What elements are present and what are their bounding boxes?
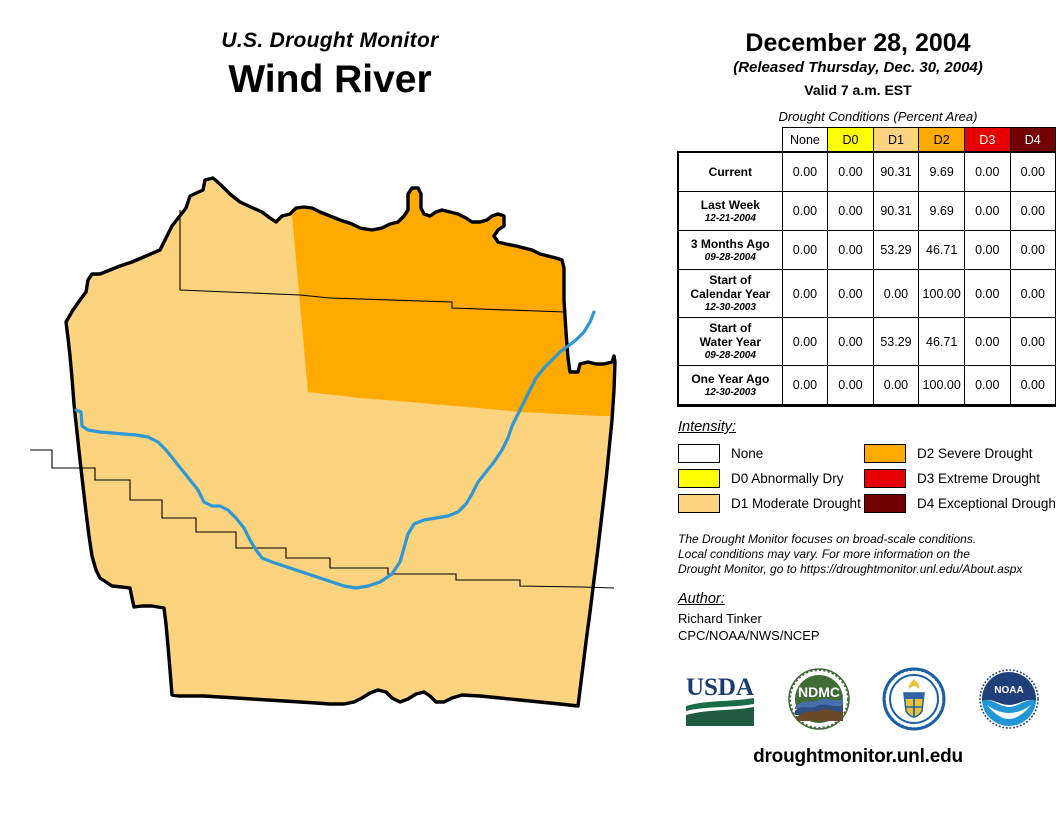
column-header-none: None bbox=[782, 128, 828, 153]
table-cell: 0.00 bbox=[1010, 231, 1056, 270]
table-cell: 0.00 bbox=[782, 366, 828, 405]
usda-logo-text: USDA bbox=[685, 674, 753, 701]
row-label-date: 09-28-2004 bbox=[681, 349, 780, 362]
row-label-date: 12-30-2003 bbox=[681, 301, 780, 314]
table-cell: 100.00 bbox=[919, 366, 965, 405]
table-cell: 0.00 bbox=[782, 270, 828, 318]
table-cell: 0.00 bbox=[873, 366, 919, 405]
table-cell: 90.31 bbox=[873, 153, 919, 192]
legend-label-d3: D3 Extreme Drought bbox=[917, 471, 1040, 486]
wind-river-drought-map[interactable] bbox=[0, 150, 660, 770]
map-panel: U.S. Drought Monitor Wind River bbox=[0, 0, 660, 816]
intensity-heading: Intensity: bbox=[678, 419, 1050, 435]
row-label-date: 12-21-2004 bbox=[681, 212, 780, 225]
row-label: One Year Ago12-30-2003 bbox=[679, 366, 783, 405]
table-row: Last Week12-21-20040.000.0090.319.690.00… bbox=[679, 192, 1056, 231]
row-label: Start ofWater Year09-28-2004 bbox=[679, 318, 783, 366]
drought-conditions-table: None D0 D1 D2 D3 D4 Current0.000.0090.31… bbox=[678, 127, 1056, 405]
table-cell: 0.00 bbox=[873, 270, 919, 318]
author-heading: Author: bbox=[678, 591, 1056, 607]
usda-logo: USDA bbox=[684, 670, 756, 733]
table-cell: 0.00 bbox=[782, 318, 828, 366]
author-name: Richard Tinker bbox=[678, 610, 1056, 627]
legend-item-d3: D3 Extreme Drought bbox=[864, 469, 1050, 488]
row-label-line: Current bbox=[681, 165, 780, 179]
column-header-d2: D2 bbox=[919, 128, 965, 153]
map-region-d2 bbox=[292, 188, 615, 416]
legend-swatch-d2 bbox=[864, 444, 906, 463]
legend-item-d1: D1 Moderate Drought bbox=[678, 494, 864, 513]
legend-label-d0: D0 Abnormally Dry bbox=[731, 471, 844, 486]
table-cell: 0.00 bbox=[828, 153, 873, 192]
intensity-legend: Intensity: NoneD2 Severe DroughtD0 Abnor… bbox=[678, 419, 1050, 516]
report-date: December 28, 2004 bbox=[660, 28, 1056, 58]
table-head: None D0 D1 D2 D3 D4 bbox=[679, 128, 1056, 153]
table-cell: 0.00 bbox=[1010, 270, 1056, 318]
row-label-line: Last Week bbox=[681, 198, 780, 212]
table-cell: 53.29 bbox=[873, 318, 919, 366]
table-cell: 53.29 bbox=[873, 231, 919, 270]
legend-label-none: None bbox=[731, 446, 763, 461]
legend-swatch-d3 bbox=[864, 469, 906, 488]
table-cell: 0.00 bbox=[965, 192, 1010, 231]
row-label: Start ofCalendar Year12-30-2003 bbox=[679, 270, 783, 318]
legend-grid: NoneD2 Severe DroughtD0 Abnormally DryD3… bbox=[678, 441, 1050, 516]
row-label: 3 Months Ago09-28-2004 bbox=[679, 231, 783, 270]
table-caption: Drought Conditions (Percent Area) bbox=[660, 109, 1056, 124]
legend-swatch-none bbox=[678, 444, 720, 463]
column-header-d1: D1 bbox=[873, 128, 919, 153]
row-label-line: One Year Ago bbox=[681, 372, 780, 386]
row-label-line: Start of bbox=[681, 273, 780, 287]
legend-label-d2: D2 Severe Drought bbox=[917, 446, 1033, 461]
row-label-line: Water Year bbox=[681, 335, 780, 349]
row-label-date: 09-28-2004 bbox=[681, 251, 780, 264]
title-block: U.S. Drought Monitor Wind River bbox=[0, 28, 660, 104]
row-label-line: 3 Months Ago bbox=[681, 237, 780, 251]
drought-monitor-supertitle: U.S. Drought Monitor bbox=[0, 28, 660, 54]
table-cell: 0.00 bbox=[828, 318, 873, 366]
table-cell: 0.00 bbox=[1010, 192, 1056, 231]
logo-row: USDA NDMC bbox=[668, 662, 1056, 740]
table-header-row: None D0 D1 D2 D3 D4 bbox=[679, 128, 1056, 153]
table-cell: 0.00 bbox=[828, 231, 873, 270]
table-cell: 0.00 bbox=[1010, 153, 1056, 192]
date-block: December 28, 2004 (Released Thursday, De… bbox=[660, 0, 1056, 100]
table-row: One Year Ago12-30-20030.000.000.00100.00… bbox=[679, 366, 1056, 405]
table-cell: 0.00 bbox=[828, 270, 873, 318]
legend-swatch-d4 bbox=[864, 494, 906, 513]
ndmc-logo: NDMC bbox=[787, 667, 851, 736]
row-label: Last Week12-21-2004 bbox=[679, 192, 783, 231]
map-container[interactable] bbox=[0, 150, 660, 770]
table-row: Start ofWater Year09-28-20040.000.0053.2… bbox=[679, 318, 1056, 366]
legend-label-d1: D1 Moderate Drought bbox=[731, 496, 861, 511]
legend-item-d0: D0 Abnormally Dry bbox=[678, 469, 864, 488]
column-header-d3: D3 bbox=[965, 128, 1010, 153]
column-header-d0: D0 bbox=[828, 128, 873, 153]
disclaimer-text: The Drought Monitor focuses on broad-sca… bbox=[678, 532, 1054, 577]
table-cell: 0.00 bbox=[1010, 366, 1056, 405]
legend-swatch-d0 bbox=[678, 469, 720, 488]
table-cell: 0.00 bbox=[965, 231, 1010, 270]
table-cell: 0.00 bbox=[828, 366, 873, 405]
legend-item-none: None bbox=[678, 444, 864, 463]
site-url[interactable]: droughtmonitor.unl.edu bbox=[660, 746, 1056, 768]
legend-label-d4: D4 Exceptional Drought bbox=[917, 496, 1056, 511]
disclaimer-line-2: Local conditions may vary. For more info… bbox=[678, 547, 1054, 562]
table-cell: 0.00 bbox=[965, 318, 1010, 366]
table-cell: 0.00 bbox=[1010, 318, 1056, 366]
table-cell: 0.00 bbox=[828, 192, 873, 231]
table-cell: 0.00 bbox=[782, 192, 828, 231]
table-body: Current0.000.0090.319.690.000.00Last Wee… bbox=[679, 153, 1056, 405]
noaa-logo: NOAA bbox=[977, 667, 1041, 736]
author-affiliation: CPC/NOAA/NWS/NCEP bbox=[678, 627, 1056, 644]
table-cell: 0.00 bbox=[965, 153, 1010, 192]
author-section: Author: Richard Tinker CPC/NOAA/NWS/NCEP bbox=[678, 591, 1056, 644]
disclaimer-line-1: The Drought Monitor focuses on broad-sca… bbox=[678, 532, 1054, 547]
table-cell: 46.71 bbox=[919, 318, 965, 366]
valid-time: Valid 7 a.m. EST bbox=[660, 80, 1056, 100]
row-label-line: Calendar Year bbox=[681, 287, 780, 301]
table-cell: 90.31 bbox=[873, 192, 919, 231]
legend-item-d4: D4 Exceptional Drought bbox=[864, 494, 1050, 513]
table-row: Current0.000.0090.319.690.000.00 bbox=[679, 153, 1056, 192]
column-header-d4: D4 bbox=[1010, 128, 1056, 153]
table-corner-cell bbox=[679, 128, 783, 153]
table-cell: 0.00 bbox=[782, 231, 828, 270]
legend-swatch-d1 bbox=[678, 494, 720, 513]
table-cell: 9.69 bbox=[919, 153, 965, 192]
disclaimer-line-3: Drought Monitor, go to https://droughtmo… bbox=[678, 562, 1054, 577]
table-cell: 0.00 bbox=[782, 153, 828, 192]
table-cell: 46.71 bbox=[919, 231, 965, 270]
row-label-line: Start of bbox=[681, 321, 780, 335]
row-label: Current bbox=[679, 153, 783, 192]
ndmc-logo-text: NDMC bbox=[798, 684, 840, 700]
table-cell: 100.00 bbox=[919, 270, 965, 318]
table-cell: 0.00 bbox=[965, 270, 1010, 318]
usdc-seal bbox=[882, 667, 946, 736]
table-row: Start ofCalendar Year12-30-20030.000.000… bbox=[679, 270, 1056, 318]
table-cell: 9.69 bbox=[919, 192, 965, 231]
noaa-logo-text: NOAA bbox=[994, 685, 1023, 696]
table-cell: 0.00 bbox=[965, 366, 1010, 405]
row-label-date: 12-30-2003 bbox=[681, 386, 780, 399]
region-title: Wind River bbox=[0, 56, 660, 104]
table-row: 3 Months Ago09-28-20040.000.0053.2946.71… bbox=[679, 231, 1056, 270]
release-date: (Released Thursday, Dec. 30, 2004) bbox=[660, 58, 1056, 78]
info-panel: December 28, 2004 (Released Thursday, De… bbox=[660, 0, 1056, 816]
legend-item-d2: D2 Severe Drought bbox=[864, 444, 1050, 463]
